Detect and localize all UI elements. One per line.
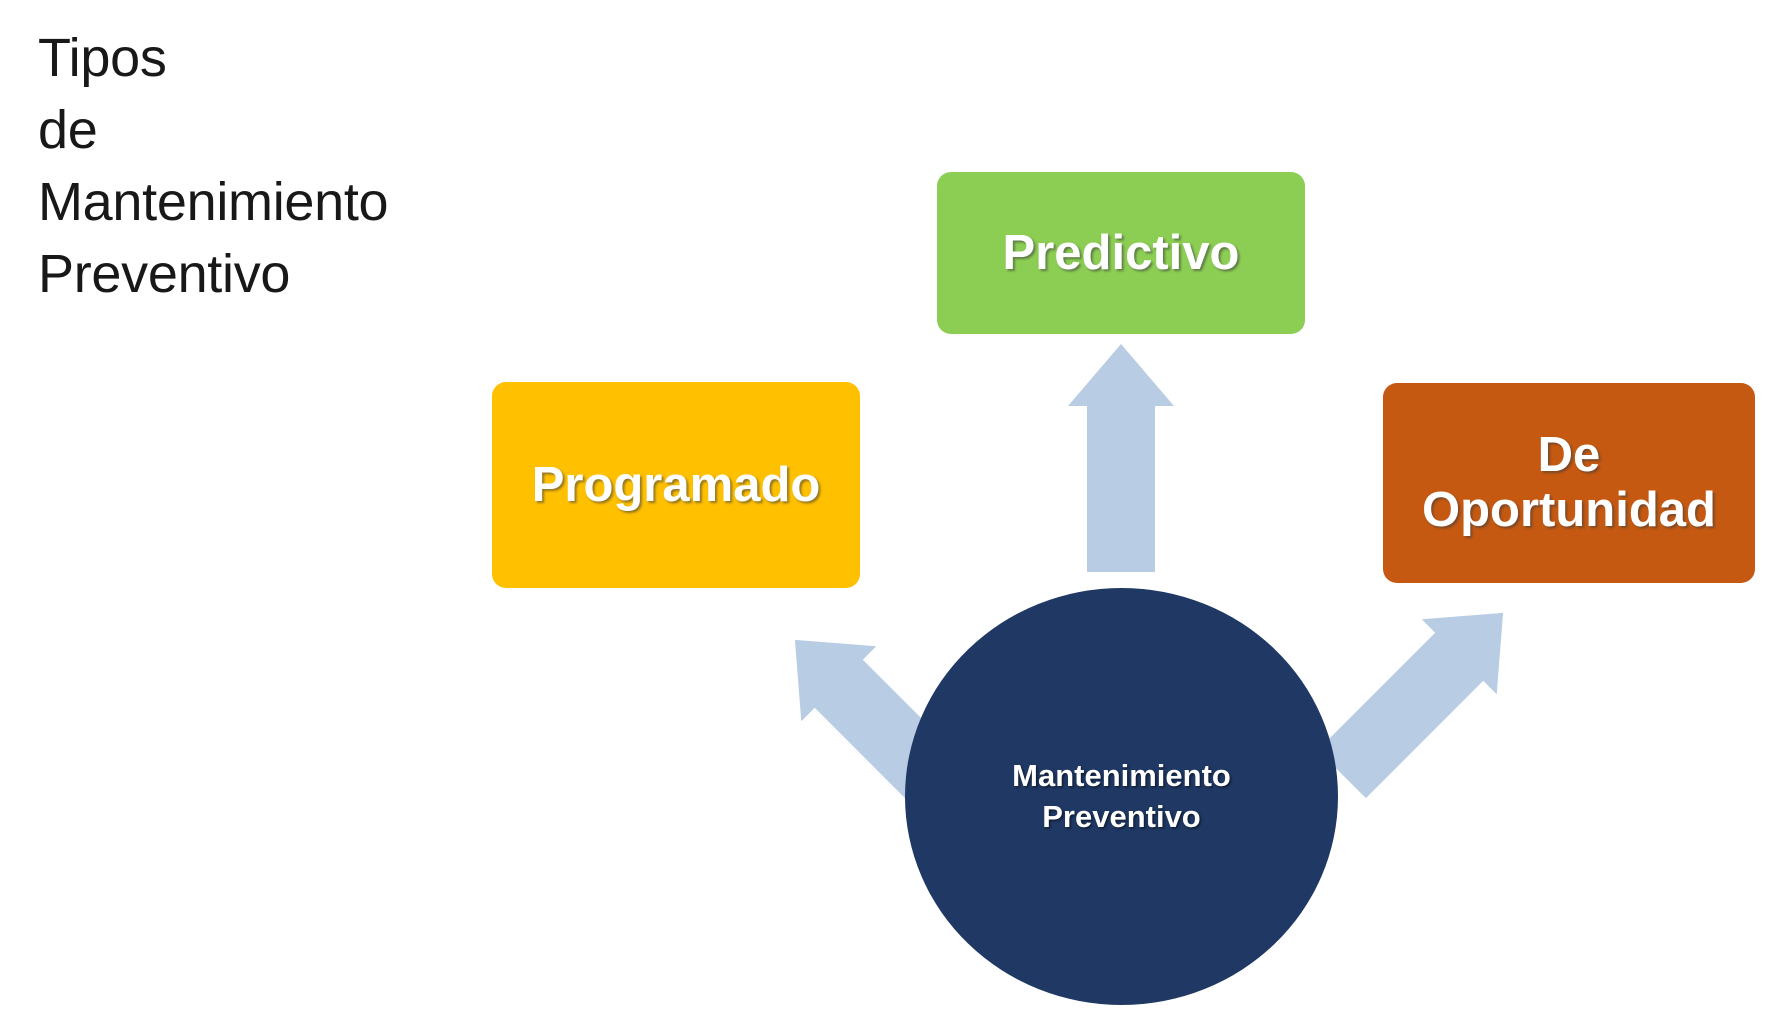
branch-box-programado[interactable]: Programado <box>492 382 860 588</box>
branch-box-oportunidad[interactable]: De Oportunidad <box>1383 383 1755 583</box>
branch-label-oportunidad-line-1: De <box>1422 428 1716 483</box>
diagram-canvas: Tipos de Mantenimiento Preventivo Predic… <box>0 0 1789 1032</box>
branch-label-predictivo: Predictivo <box>1003 226 1240 281</box>
branch-box-predictivo[interactable]: Predictivo <box>937 172 1305 334</box>
branch-label-oportunidad-line-2: Oportunidad <box>1422 483 1716 538</box>
branch-label-programado: Programado <box>532 458 821 513</box>
center-node-mantenimiento-preventivo[interactable]: Mantenimiento Preventivo <box>905 588 1338 1005</box>
arrow-up-to-predictivo-icon <box>1068 344 1174 572</box>
center-node-label-line-2: Preventivo <box>1042 797 1201 838</box>
branch-label-oportunidad: De Oportunidad <box>1422 428 1716 538</box>
center-node-label-line-1: Mantenimiento <box>1012 756 1231 797</box>
arrow-up-right-to-oportunidad-icon <box>1304 575 1540 811</box>
